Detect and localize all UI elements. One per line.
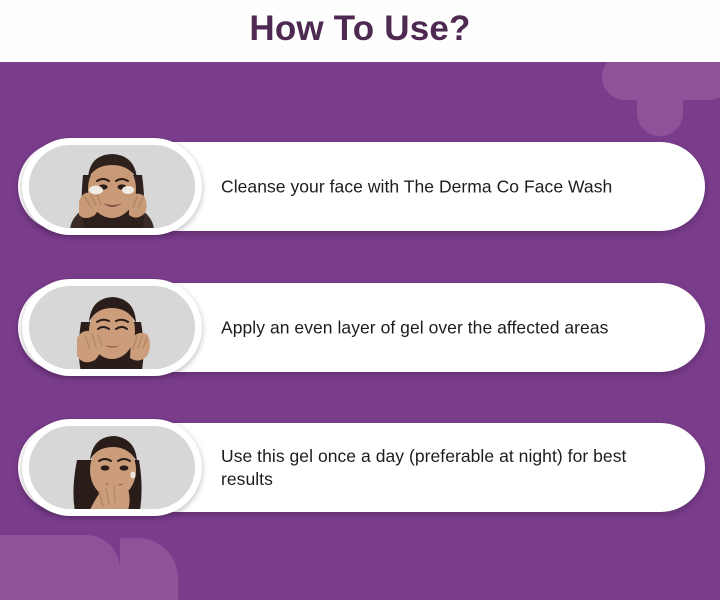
step-card-3[interactable]: Use this gel once a day (preferable at n… — [18, 423, 705, 512]
step-text-3: Use this gel once a day (preferable at n… — [221, 444, 679, 490]
page-title: How To Use? — [249, 11, 470, 52]
step-thumbnail-frame-1 — [22, 138, 202, 235]
header-band: How To Use? — [0, 0, 720, 62]
step-text-1: Cleanse your face with The Derma Co Face… — [221, 175, 679, 198]
step-thumbnail-1 — [29, 145, 195, 228]
step-card-1[interactable]: Cleanse your face with The Derma Co Face… — [18, 142, 705, 231]
step-thumbnail-frame-2 — [22, 279, 202, 376]
body-panel: Cleanse your face with The Derma Co Face… — [0, 62, 720, 600]
how-to-use-poster: How To Use? — [0, 0, 720, 600]
steps-list: Cleanse your face with The Derma Co Face… — [0, 62, 720, 600]
step-text-2: Apply an even layer of gel over the affe… — [221, 316, 679, 339]
step-thumbnail-frame-3 — [22, 419, 202, 516]
step-thumbnail-2 — [29, 286, 195, 369]
step-card-2[interactable]: Apply an even layer of gel over the affe… — [18, 283, 705, 372]
step-thumbnail-3 — [29, 426, 195, 509]
